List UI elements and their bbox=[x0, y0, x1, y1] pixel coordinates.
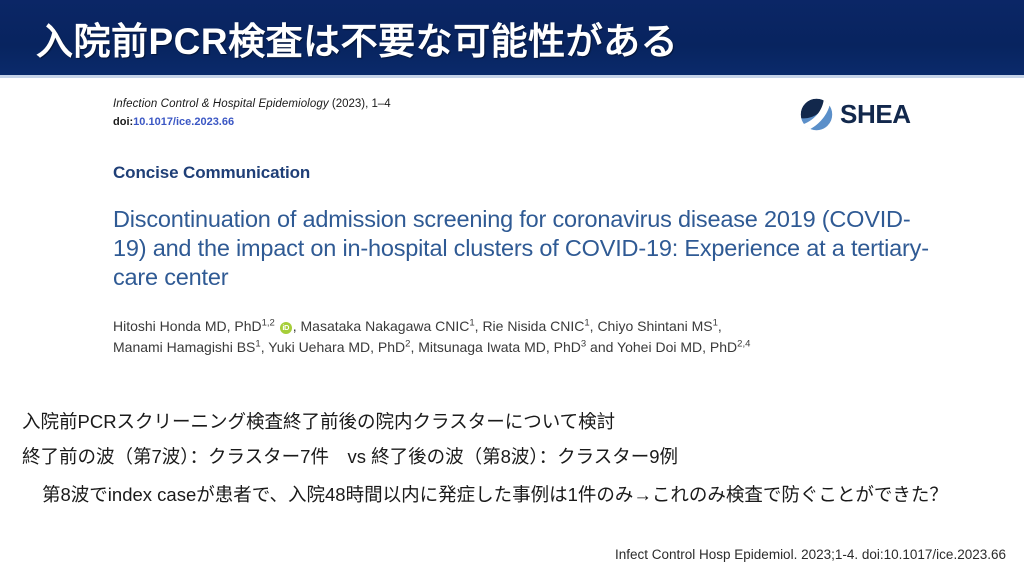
author-affiliation-sup: 1,2 bbox=[262, 317, 275, 328]
author-text: , Mitsunaga Iwata MD, PhD bbox=[410, 339, 580, 355]
commentary-line-2: 終了前の波（第7波）：クラスター7件 vs 終了後の波（第8波）：クラスター9例 bbox=[22, 439, 1024, 474]
paper-clipping: Infection Control & Hospital Epidemiolog… bbox=[0, 86, 1024, 386]
shea-circle-logo-icon bbox=[800, 98, 833, 131]
article-authors: Hitoshi Honda MD, PhD1,2 iD, Masataka Na… bbox=[113, 316, 903, 358]
footer-citation: Infect Control Hosp Epidemiol. 2023;1-4.… bbox=[615, 547, 1006, 562]
author-text: Manami Hamagishi BS bbox=[113, 339, 255, 355]
slide-title-banner: 入院前PCR検査は不要な可能性がある bbox=[0, 0, 1024, 78]
author-text: , Yuki Uehara MD, PhD bbox=[261, 339, 405, 355]
journal-citation-line: Infection Control & Hospital Epidemiolog… bbox=[113, 96, 391, 112]
commentary-line-1: 入院前PCRスクリーニング検査終了前後の院内クラスターについて検討 bbox=[22, 404, 1024, 439]
doi-link[interactable]: 10.1017/ice.2023.66 bbox=[133, 116, 234, 128]
shea-wordmark: SHEA bbox=[840, 99, 911, 130]
commentary-block: 入院前PCRスクリーニング検査終了前後の院内クラスターについて検討 終了前の波（… bbox=[0, 404, 1024, 512]
journal-volume: (2023), 1–4 bbox=[329, 98, 391, 110]
author-affiliation-sup: 2,4 bbox=[737, 338, 750, 349]
author-text: , bbox=[718, 318, 722, 334]
orcid-icon[interactable]: iD bbox=[280, 322, 292, 334]
article-section-label: Concise Communication bbox=[113, 163, 310, 183]
author-line-2: Manami Hamagishi BS1, Yuki Uehara MD, Ph… bbox=[113, 337, 903, 358]
shea-logo: SHEA bbox=[800, 98, 911, 131]
journal-meta: Infection Control & Hospital Epidemiolog… bbox=[113, 96, 391, 130]
author-text: Hitoshi Honda MD, PhD bbox=[113, 318, 262, 334]
doi-line: doi:10.1017/ice.2023.66 bbox=[113, 114, 391, 130]
journal-name: Infection Control & Hospital Epidemiolog… bbox=[113, 98, 329, 110]
author-text: , Chiyo Shintani MS bbox=[590, 318, 713, 334]
slide-root: 入院前PCR検査は不要な可能性がある Infection Control & H… bbox=[0, 0, 1024, 576]
doi-prefix: doi: bbox=[113, 116, 133, 128]
commentary-line-3: 第8波でindex caseが患者で、入院48時間以内に発症した事例は1件のみ→… bbox=[42, 477, 1024, 512]
author-line-1: Hitoshi Honda MD, PhD1,2 iD, Masataka Na… bbox=[113, 316, 903, 337]
article-title: Discontinuation of admission screening f… bbox=[113, 205, 943, 292]
slide-title: 入院前PCR検査は不要な可能性がある bbox=[36, 11, 678, 65]
author-text: , Masataka Nakagawa CNIC bbox=[293, 318, 470, 334]
author-text: and Yohei Doi MD, PhD bbox=[586, 339, 737, 355]
author-text: , Rie Nisida CNIC bbox=[475, 318, 585, 334]
